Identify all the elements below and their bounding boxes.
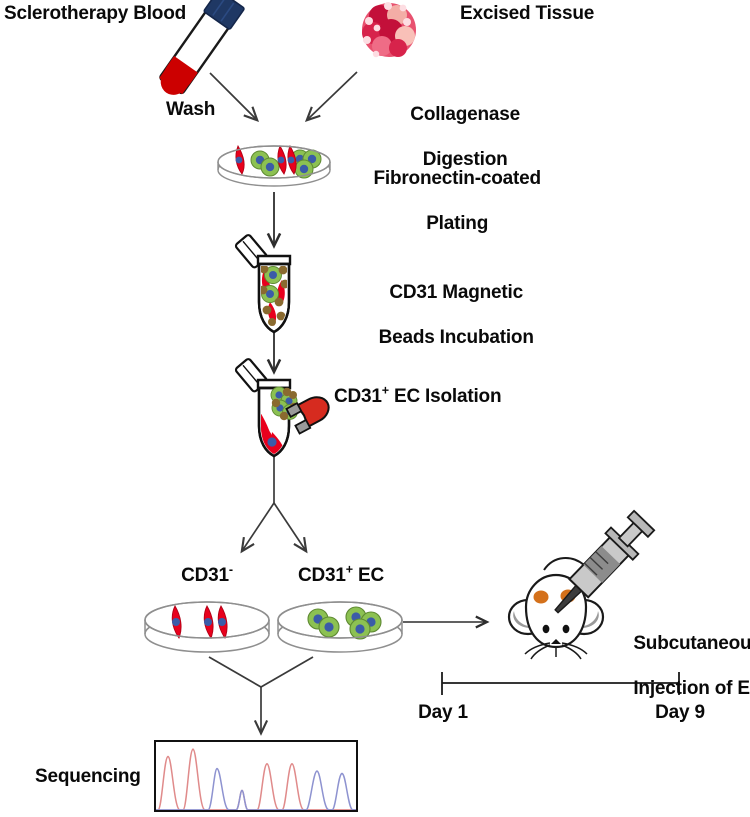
horseshoe-magnet-icon <box>286 391 334 434</box>
cd31-negative-prefix: CD31 <box>181 565 229 586</box>
label-cd31-magnetic-beads: CD31 Magnetic Beads Incubation <box>330 260 562 372</box>
label-fibronectin-plating: Fibronectin-coated Plating <box>335 146 559 258</box>
label-wash: Wash <box>166 99 215 121</box>
subcutaneous-line-2: Injection of EC <box>633 678 750 699</box>
cd31-positive-superscript: + <box>346 563 353 577</box>
cd31-isolation-prefix: CD31 <box>334 386 382 407</box>
arrow-merge-right <box>261 657 313 687</box>
label-day-9: Day 9 <box>643 702 717 724</box>
arrow-split-right <box>274 503 306 551</box>
collagenase-line-1: Collagenase <box>410 104 520 125</box>
chromatogram-trace-blue <box>156 769 356 810</box>
figure-canvas: Sclerotherapy Blood Excised Tissue Wash … <box>0 0 750 817</box>
cd31-positive-suffix: EC <box>353 565 384 586</box>
label-cd31-positive-ec: CD31+ EC <box>276 565 406 587</box>
cd31-negative-superscript: - <box>229 563 233 577</box>
label-cd31-negative: CD31- <box>150 565 264 587</box>
label-excised-tissue: Excised Tissue <box>460 3 594 25</box>
excised-tissue-cluster-icon <box>362 2 416 57</box>
arrow-merge-left <box>209 657 261 687</box>
fibronectin-line-2: Plating <box>426 213 488 234</box>
sanger-chromatogram-icon <box>156 742 356 810</box>
cd31-beads-line-1: CD31 Magnetic <box>389 282 523 303</box>
chromatogram-trace-red <box>156 749 356 810</box>
syringe-icon <box>543 507 658 624</box>
cd31-beads-line-2: Beads Incubation <box>379 327 534 348</box>
petri-dish-cd31-negative-icon <box>145 602 269 652</box>
petri-dish-cd31-positive-icon <box>278 602 402 652</box>
eppendorf-tube-magnet-separation-icon <box>235 358 334 456</box>
label-day-1: Day 1 <box>406 702 480 724</box>
label-cd31-ec-isolation: CD31+ EC Isolation <box>334 386 501 408</box>
cd31-isolation-superscript: + <box>382 384 389 398</box>
arrow-split-left <box>242 503 274 551</box>
cd31-positive-prefix: CD31 <box>298 565 346 586</box>
subcutaneous-line-1: Subcutaneous <box>633 633 750 654</box>
sequencing-chromatogram-box <box>154 740 358 812</box>
mouse-head-icon <box>509 558 603 659</box>
petri-dish-mixed-cells-icon <box>218 146 330 186</box>
fibronectin-line-1: Fibronectin-coated <box>373 168 540 189</box>
arrow-blood-to-dish <box>210 73 257 120</box>
label-sequencing: Sequencing <box>35 766 141 788</box>
arrow-tissue-to-dish <box>307 72 357 120</box>
cd31-isolation-suffix: EC Isolation <box>389 386 501 407</box>
eppendorf-tube-magnetic-beads-icon <box>235 234 290 332</box>
label-sclerotherapy-blood: Sclerotherapy Blood <box>4 3 186 25</box>
